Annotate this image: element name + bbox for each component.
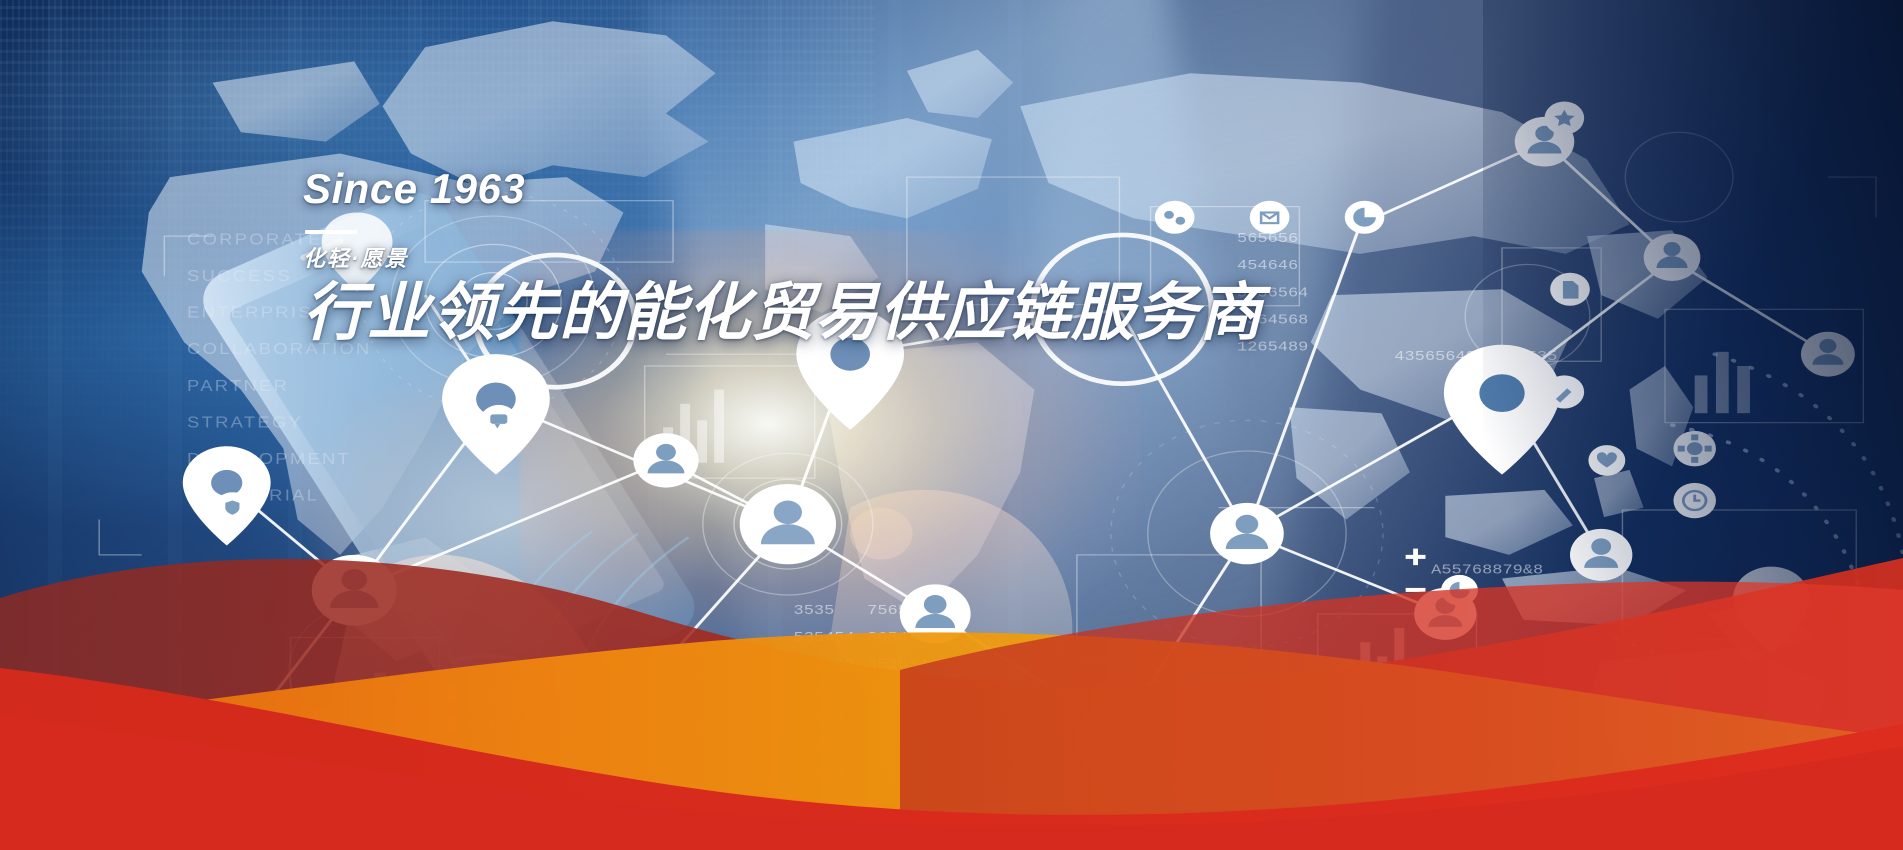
- subtitle-vision: 化轻·愿景: [303, 248, 1263, 270]
- eyebrow-since: Since 1963: [303, 168, 1263, 210]
- title-divider: [305, 230, 357, 234]
- bottom-wave-graphics: [0, 520, 1903, 850]
- hero-banner: CORPORATE SUCCESS ENTERPRISE COLLABORATI…: [0, 0, 1903, 850]
- hero-copy-block: Since 1963 化轻·愿景 行业领先的能化贸易供应链服务商: [303, 168, 1263, 346]
- page-title: 行业领先的能化贸易供应链服务商: [303, 280, 1263, 346]
